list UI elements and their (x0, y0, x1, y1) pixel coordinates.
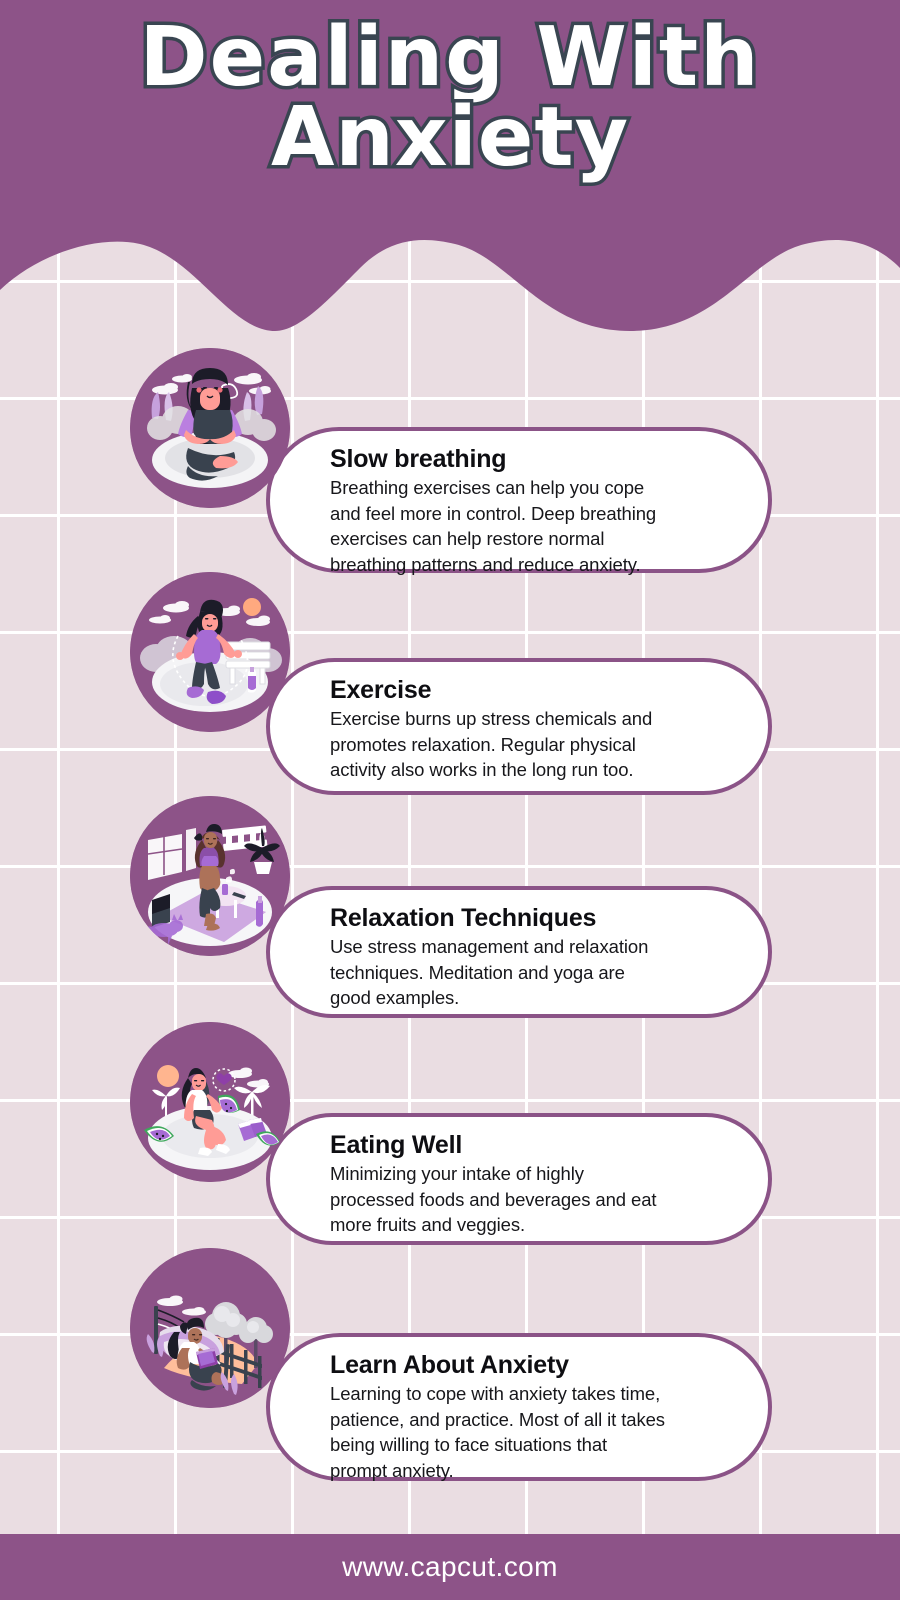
tip-card-1-body: Breathing exercises can help you cope an… (330, 475, 734, 577)
tip-card-3[interactable]: Relaxation Techniques Use stress managem… (266, 886, 772, 1018)
tip-card-2[interactable]: Exercise Exercise burns up stress chemic… (266, 658, 772, 795)
header-wave-shape (0, 0, 900, 340)
footer-bar: www.capcut.com (0, 1534, 900, 1600)
header-banner (0, 0, 900, 340)
tip-card-3-title: Relaxation Techniques (330, 904, 734, 933)
footer-url: www.capcut.com (342, 1551, 558, 1583)
tip-illustration-3 (130, 796, 290, 956)
tip-card-5-title: Learn About Anxiety (330, 1351, 734, 1380)
tip-card-5-body: Learning to cope with anxiety takes time… (330, 1381, 734, 1483)
tip-card-2-title: Exercise (330, 676, 734, 705)
tip-card-1-title: Slow breathing (330, 445, 734, 474)
tip-card-1[interactable]: Slow breathing Breathing exercises can h… (266, 427, 772, 573)
tip-card-4[interactable]: Eating Well Minimizing your intake of hi… (266, 1113, 772, 1245)
tip-illustration-5 (130, 1248, 290, 1408)
tip-illustration-2 (130, 572, 290, 732)
tip-card-4-title: Eating Well (330, 1131, 734, 1160)
tip-card-3-body: Use stress management and relaxation tec… (330, 934, 734, 1011)
tip-card-2-body: Exercise burns up stress chemicals and p… (330, 706, 734, 783)
tip-card-5[interactable]: Learn About Anxiety Learning to cope wit… (266, 1333, 772, 1481)
tip-card-4-body: Minimizing your intake of highly process… (330, 1161, 734, 1238)
tip-illustration-4 (130, 1022, 290, 1182)
tip-illustration-1 (130, 348, 290, 508)
